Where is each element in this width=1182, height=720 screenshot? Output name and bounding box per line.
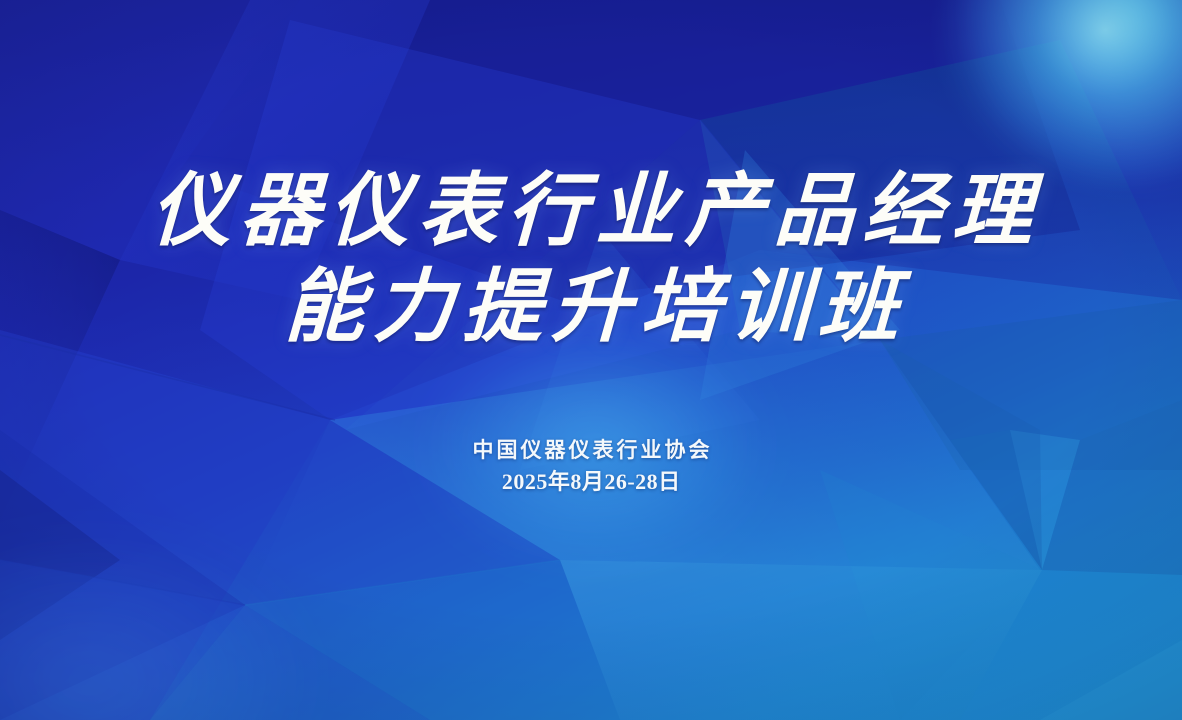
poster-canvas: 仪器仪表行业产品经理 能力提升培训班 中国仪器仪表行业协会 2025年8月26-… — [0, 0, 1182, 720]
organizer-name: 中国仪器仪表行业协会 — [470, 436, 713, 466]
poster-subtitle: 中国仪器仪表行业协会 2025年8月26-28日 — [470, 436, 713, 497]
title-line-1: 仪器仪表行业产品经理 — [140, 168, 1042, 256]
title-line-2: 能力提升培训班 — [140, 264, 1042, 352]
event-date-range: 2025年8月26-28日 — [470, 466, 713, 497]
background-artwork — [0, 0, 1182, 720]
bg-fan-br-5 — [560, 560, 1042, 720]
poster-title: 仪器仪表行业产品经理 能力提升培训班 — [142, 168, 1041, 352]
